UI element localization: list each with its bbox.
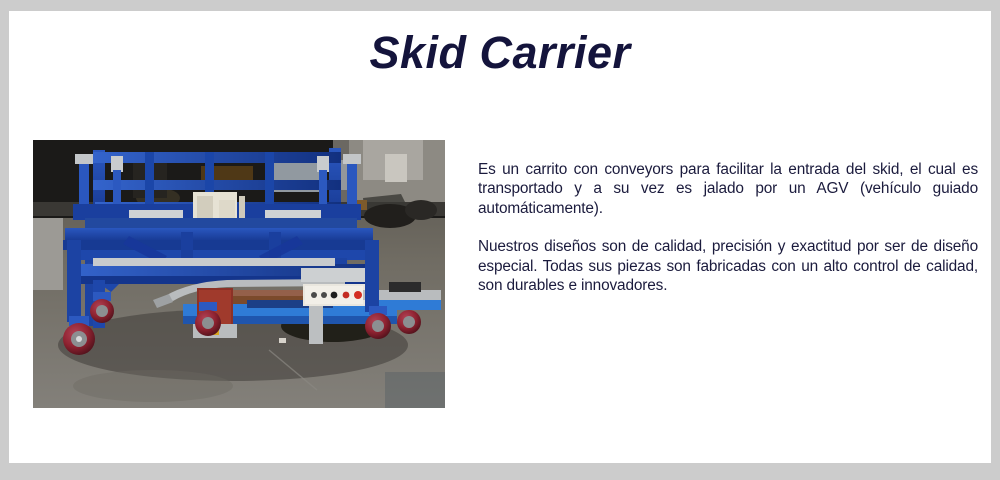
page-content-area: Skid Carrier (9, 11, 991, 463)
skid-carrier-photo-graphic (33, 140, 445, 408)
paragraph-1: Es un carrito con conveyors para facilit… (478, 160, 978, 218)
page-title: Skid Carrier (9, 27, 991, 79)
product-photo (33, 140, 445, 408)
paragraph-2: Nuestros diseños son de calidad, precisi… (478, 237, 978, 295)
description-text-column: Es un carrito con conveyors para facilit… (478, 160, 978, 295)
